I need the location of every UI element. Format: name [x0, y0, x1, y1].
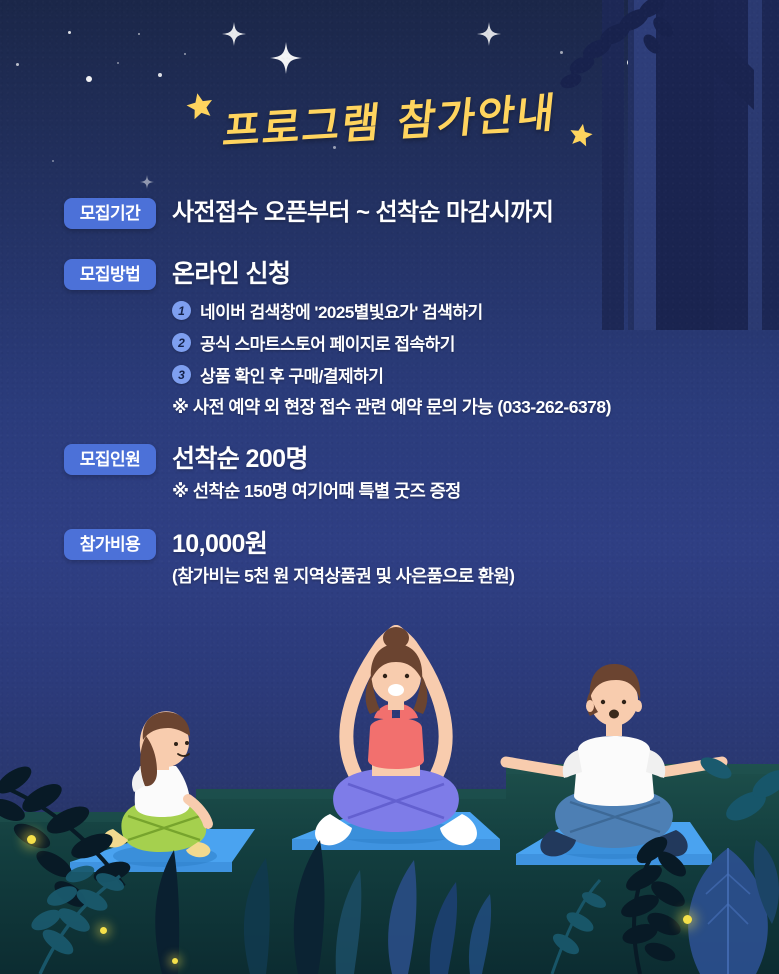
yoga-mat-right [516, 822, 712, 865]
star-dot [68, 31, 71, 34]
badge-capacity: 모집인원 [64, 444, 156, 475]
step-number-1-icon: 1 [172, 301, 191, 320]
grass-blade [155, 850, 179, 974]
star-dot [138, 33, 140, 35]
row-body-capacity: 선착순 200명 ※ 선착순 150명 여기어때 특별 굿즈 증정 [172, 444, 461, 503]
fern-leaf-left-blue [28, 862, 126, 974]
star-dot [52, 160, 54, 162]
headline-recruit-period: 사전접수 오픈부터 ~ 선착순 마감시까지 [172, 198, 553, 228]
apply-step-text: 공식 스마트스토어 페이지로 접속하기 [200, 330, 455, 355]
grass-blade [469, 894, 491, 974]
row-body-how-to-apply: 온라인 신청 1 네이버 검색창에 '2025별빛요가' 검색하기 2 공식 스… [172, 259, 611, 419]
leaf-cluster-far-right [688, 765, 779, 974]
star-dot [86, 76, 92, 82]
info-row-capacity: 모집인원 선착순 200명 ※ 선착순 150명 여기어때 특별 굿즈 증정 [0, 444, 779, 503]
apply-step-item: 2 공식 스마트스토어 페이지로 접속하기 [172, 330, 611, 355]
info-section-list: 모집기간 사전접수 오픈부터 ~ 선착순 마감시까지 모집방법 온라인 신청 1… [0, 198, 779, 588]
badge-fee: 참가비용 [64, 529, 156, 560]
star-dot [560, 51, 563, 54]
firefly-glow [27, 835, 36, 844]
firefly-glow [683, 915, 692, 924]
row-body-fee: 10,000원 (참가비는 5천 원 지역상품권 및 사은품으로 환원) [172, 529, 514, 588]
headline-fee: 10,000원 [172, 529, 514, 559]
note-onsite-inquiry: ※ 사전 예약 외 현장 접수 관련 예약 문의 가능 (033-262-637… [172, 394, 611, 419]
star-dot [744, 30, 747, 33]
star-dot [184, 53, 186, 55]
headline-how-to-apply: 온라인 신청 [172, 259, 611, 289]
apply-step-text: 상품 확인 후 구매/결제하기 [200, 362, 383, 387]
fern-leaf-left [0, 761, 133, 912]
note-capacity-goods: ※ 선착순 150명 여기어때 특별 굿즈 증정 [172, 478, 461, 503]
star-dot [16, 63, 19, 66]
star-dot [627, 59, 634, 66]
star-dot [690, 29, 694, 33]
star-dot [759, 63, 765, 69]
info-row-fee: 참가비용 10,000원 (참가비는 5천 원 지역상품권 및 사은품으로 환원… [0, 529, 779, 588]
grass-blade [336, 870, 362, 974]
sparkle-star-icon [222, 22, 246, 46]
ground-layer [0, 714, 779, 974]
row-body-recruit-period: 사전접수 오픈부터 ~ 선착순 마감시까지 [172, 198, 553, 228]
fern-leaf-right-dark [618, 832, 690, 974]
firefly-glow [100, 927, 107, 934]
star-dot [716, 63, 722, 69]
info-row-recruit-period: 모집기간 사전접수 오픈부터 ~ 선착순 마감시까지 [0, 198, 779, 229]
foreground-foliage-layer [0, 744, 779, 974]
firefly-glow [172, 958, 178, 964]
apply-step-item: 1 네이버 검색창에 '2025별빛요가' 검색하기 [172, 298, 611, 323]
step-number-2-icon: 2 [172, 333, 191, 352]
apply-step-item: 3 상품 확인 후 구매/결제하기 [172, 362, 611, 387]
poster-canvas: 프로그램 참가안내 모집기간 사전접수 오픈부터 ~ 선착순 마감시까지 모집방… [0, 0, 779, 974]
star-dot [604, 70, 606, 72]
grass-blade [294, 840, 325, 974]
yoga-person-right [506, 664, 722, 859]
yoga-person-left [103, 712, 217, 867]
note-fee-refund: (참가비는 5천 원 지역상품권 및 사은품으로 환원) [172, 563, 514, 588]
step-number-3-icon: 3 [172, 365, 191, 384]
headline-capacity: 선착순 200명 [172, 444, 461, 474]
apply-steps-list: 1 네이버 검색창에 '2025별빛요가' 검색하기 2 공식 스마트스토어 페… [172, 298, 611, 387]
yoga-mat-left [70, 829, 255, 872]
star-dot [158, 73, 162, 77]
badge-how-to-apply: 모집방법 [64, 259, 156, 290]
fern-leaf-right-blue [550, 880, 609, 974]
grass-blade [388, 860, 416, 974]
small-leaf [697, 753, 735, 783]
yoga-person-center [315, 626, 477, 846]
sparkle-star-icon [270, 42, 302, 74]
apply-step-text: 네이버 검색창에 '2025별빛요가' 검색하기 [200, 298, 483, 323]
star-dot [684, 62, 687, 65]
badge-recruit-period: 모집기간 [64, 198, 156, 229]
poster-title: 프로그램 참가안내 [221, 78, 561, 157]
sparkle-star-icon [477, 22, 501, 46]
title-star-left-icon [185, 91, 215, 121]
grass-blade [430, 882, 457, 974]
yoga-people-illustration [0, 624, 779, 974]
poster-title-block: 프로그램 참가안내 [0, 88, 779, 148]
star-dot [117, 62, 119, 64]
grass-blade [244, 858, 270, 974]
star-dot [636, 33, 639, 36]
info-row-how-to-apply: 모집방법 온라인 신청 1 네이버 검색창에 '2025별빛요가' 검색하기 2… [0, 259, 779, 419]
yoga-mat-center [292, 812, 500, 850]
title-star-right-icon [568, 122, 594, 148]
sparkle-star-icon [140, 175, 154, 189]
